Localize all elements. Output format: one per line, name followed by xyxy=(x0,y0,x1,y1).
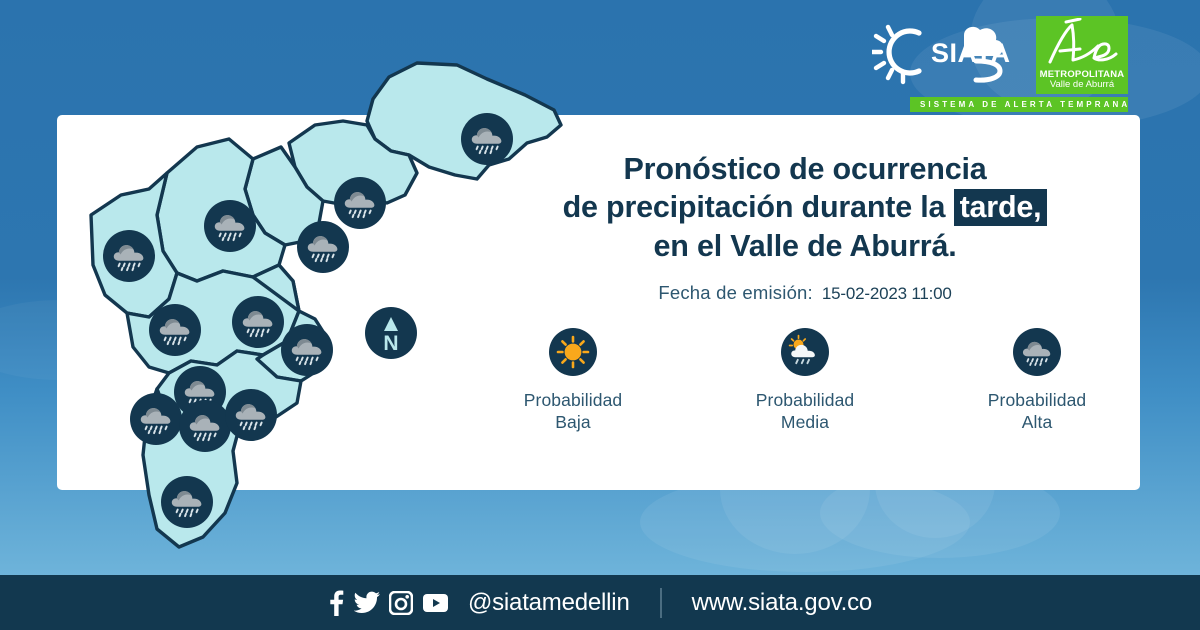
footer-divider xyxy=(660,588,662,618)
map-marker-alta xyxy=(281,324,333,376)
area-script-icon xyxy=(1036,18,1128,68)
website-url[interactable]: www.siata.gov.co xyxy=(692,589,872,617)
youtube-icon[interactable] xyxy=(422,593,449,613)
twitter-icon[interactable] xyxy=(354,591,380,615)
cloud-rain-icon xyxy=(204,200,256,252)
cloud-rain-icon xyxy=(179,400,231,452)
emission-value: 15-02-2023 11:00 xyxy=(822,284,952,304)
legend-item-alta: Probabilidad Alta xyxy=(963,328,1111,434)
legend-label-baja: Probabilidad Baja xyxy=(524,389,623,434)
social-icons xyxy=(328,589,449,617)
siata-tagline: SISTEMA DE ALERTA TEMPRANA xyxy=(910,97,1128,112)
cloud-rain-icon xyxy=(149,304,201,356)
probability-legend: Probabilidad Baja Probabilidad Media xyxy=(470,328,1140,434)
header-logos: SIATA METROPOLITANA Valle de Aburrá SIST… xyxy=(872,16,1128,112)
legend-label-media: Probabilidad Media xyxy=(756,389,855,434)
facebook-icon[interactable] xyxy=(328,589,345,617)
emission-row: Fecha de emisión: 15-02-2023 11:00 xyxy=(470,282,1140,304)
social-handle[interactable]: @siatamedellin xyxy=(468,589,630,617)
cloud-rain-icon xyxy=(130,393,182,445)
legend-item-baja: Probabilidad Baja xyxy=(499,328,647,434)
compass-badge: N xyxy=(365,307,417,359)
map-marker-alta xyxy=(103,230,155,282)
headline-line-1: Pronóstico de ocurrencia xyxy=(470,150,1140,188)
headline-highlight: tarde, xyxy=(954,189,1048,226)
page-title: Pronóstico de ocurrencia de precipitació… xyxy=(470,150,1140,265)
logo-row: SIATA METROPOLITANA Valle de Aburrá xyxy=(872,16,1128,94)
footer-bar: @siatamedellin www.siata.gov.co xyxy=(0,575,1200,630)
instagram-icon[interactable] xyxy=(389,591,413,615)
sun-cloud-rain-icon xyxy=(781,328,829,376)
map-marker-alta xyxy=(232,296,284,348)
legend-item-media: Probabilidad Media xyxy=(731,328,879,434)
svg-text:SIATA: SIATA xyxy=(931,38,1011,68)
emission-label: Fecha de emisión: xyxy=(658,282,813,304)
legend-label-media-line2: Media xyxy=(781,412,829,432)
legend-label-media-line1: Probabilidad xyxy=(756,390,855,410)
cloud-rain-icon xyxy=(281,324,333,376)
headline-line-2: de precipitación durante la tarde, xyxy=(470,188,1140,226)
legend-label-alta-line2: Alta xyxy=(1022,412,1053,432)
headline-line-3: en el Valle de Aburrá. xyxy=(470,227,1140,265)
cloud-rain-icon xyxy=(225,389,277,441)
cloud-rain-icon xyxy=(161,476,213,528)
map-marker-alta xyxy=(130,393,182,445)
compass-label: N xyxy=(383,332,398,355)
map-marker-alta xyxy=(149,304,201,356)
headline-line-2-pre: de precipitación durante la xyxy=(563,190,954,224)
siata-logo: SIATA xyxy=(872,19,1022,91)
map-marker-alta xyxy=(297,221,349,273)
footer-inner: @siatamedellin www.siata.gov.co xyxy=(328,588,872,618)
area-metropolitana-logo: METROPOLITANA Valle de Aburrá xyxy=(1036,16,1128,94)
legend-label-baja-line2: Baja xyxy=(555,412,590,432)
valle-de-aburra-map: N xyxy=(57,55,577,575)
map-marker-alta xyxy=(161,476,213,528)
map-marker-alta xyxy=(204,200,256,252)
legend-label-alta-line1: Probabilidad xyxy=(988,390,1087,410)
map-marker-alta xyxy=(225,389,277,441)
sun-icon xyxy=(549,328,597,376)
forecast-text-panel: Pronóstico de ocurrencia de precipitació… xyxy=(470,150,1140,304)
legend-label-alta: Probabilidad Alta xyxy=(988,389,1087,434)
cloud-rain-icon xyxy=(1013,328,1061,376)
map-marker-alta xyxy=(179,400,231,452)
cloud-rain-icon xyxy=(103,230,155,282)
legend-label-baja-line1: Probabilidad xyxy=(524,390,623,410)
cloud-rain-icon xyxy=(297,221,349,273)
area-valle-label: Valle de Aburrá xyxy=(1050,80,1114,91)
cloud-rain-icon xyxy=(232,296,284,348)
